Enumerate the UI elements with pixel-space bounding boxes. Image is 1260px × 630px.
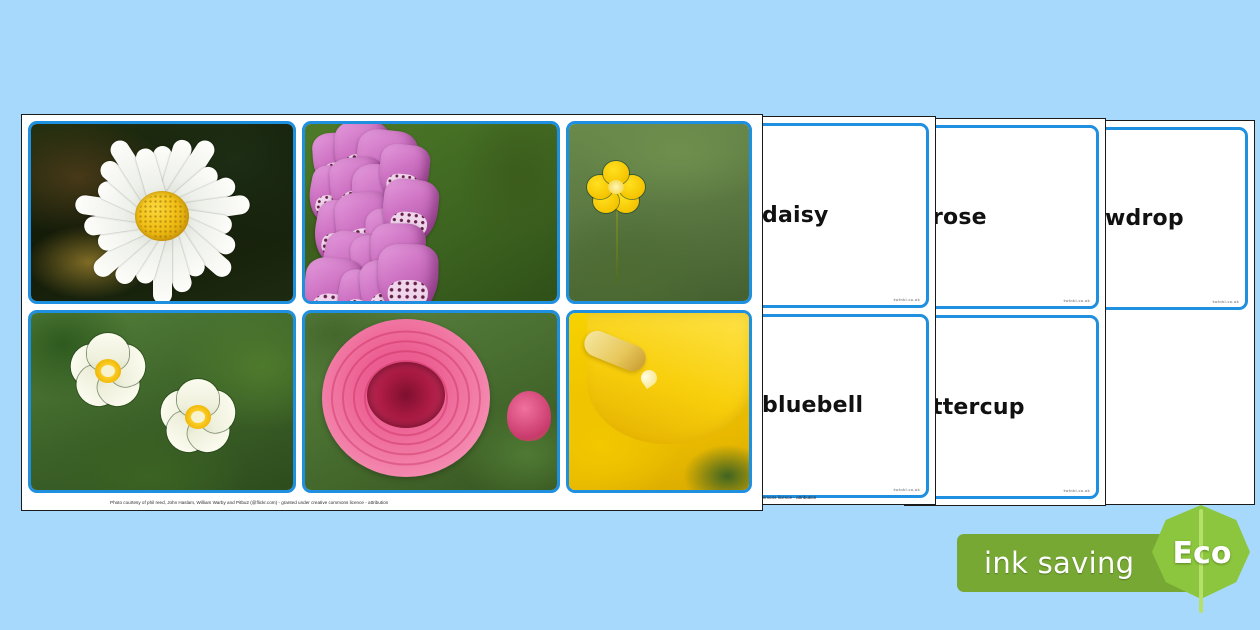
word-card-empty-slot <box>1084 316 1248 499</box>
daffodil-trumpet <box>587 310 752 444</box>
foxglove-photo <box>305 124 557 301</box>
daffodil-photo <box>569 313 749 490</box>
buttercup-bloom <box>587 161 645 211</box>
word-card-label: rose <box>932 205 987 230</box>
sheet-2-word-cards[interactable]: daisy twinkl.co.uk bluebell twinkl.co.uk… <box>735 117 935 504</box>
watermark: twinkl.co.uk <box>1213 300 1239 304</box>
buttercup-photo <box>569 124 749 301</box>
sheet-3-word-cards[interactable]: rose twinkl.co.uk ttercup twinkl.co.uk b… <box>905 119 1105 505</box>
photo-card-daffodil[interactable] <box>566 310 752 493</box>
word-card-label: bluebell <box>762 393 863 418</box>
buttercup-stem <box>616 205 618 283</box>
daisy-photo <box>31 124 293 301</box>
word-card-bluebell[interactable]: bluebell twinkl.co.uk <box>741 314 929 499</box>
photo-card-rose[interactable] <box>302 310 560 493</box>
photo-card-daisy[interactable] <box>28 121 296 304</box>
primrose-photo <box>31 313 293 490</box>
word-card-snowdrop[interactable]: wdrop twinkl.co.uk <box>1084 127 1248 310</box>
daisy-centre <box>135 191 189 241</box>
attribution-main: Photo courtesy of phil reed, John Haslam… <box>110 500 388 505</box>
watermark: twinkl.co.uk <box>1064 489 1090 493</box>
rose-bloom <box>322 319 490 477</box>
rose-photo <box>305 313 557 490</box>
foxglove-bell <box>377 244 439 304</box>
watermark: twinkl.co.uk <box>894 298 920 302</box>
watermark: twinkl.co.uk <box>1064 299 1090 303</box>
word-card-daisy[interactable]: daisy twinkl.co.uk <box>741 123 929 308</box>
photo-card-primrose[interactable] <box>28 310 296 493</box>
word-card-label: wdrop <box>1105 206 1184 231</box>
primrose-centre <box>185 405 211 429</box>
sheet-1-photo-cards[interactable]: Photo courtesy of phil reed, John Haslam… <box>22 115 762 510</box>
primrose-bloom <box>152 373 244 461</box>
primrose-bloom <box>62 327 154 415</box>
photo-card-buttercup[interactable] <box>566 121 752 304</box>
word-card-buttercup[interactable]: ttercup twinkl.co.uk <box>911 315 1099 499</box>
eco-label: Eco <box>1164 536 1240 571</box>
rose-bud <box>507 391 551 441</box>
rose-centre <box>367 362 445 428</box>
word-card-rose[interactable]: rose twinkl.co.uk <box>911 125 1099 309</box>
word-card-label: ttercup <box>932 395 1025 420</box>
photo-card-foxglove[interactable] <box>302 121 560 304</box>
ink-saving-label: ink saving <box>957 546 1134 580</box>
word-card-label: daisy <box>762 203 829 228</box>
watermark: twinkl.co.uk <box>894 488 920 492</box>
